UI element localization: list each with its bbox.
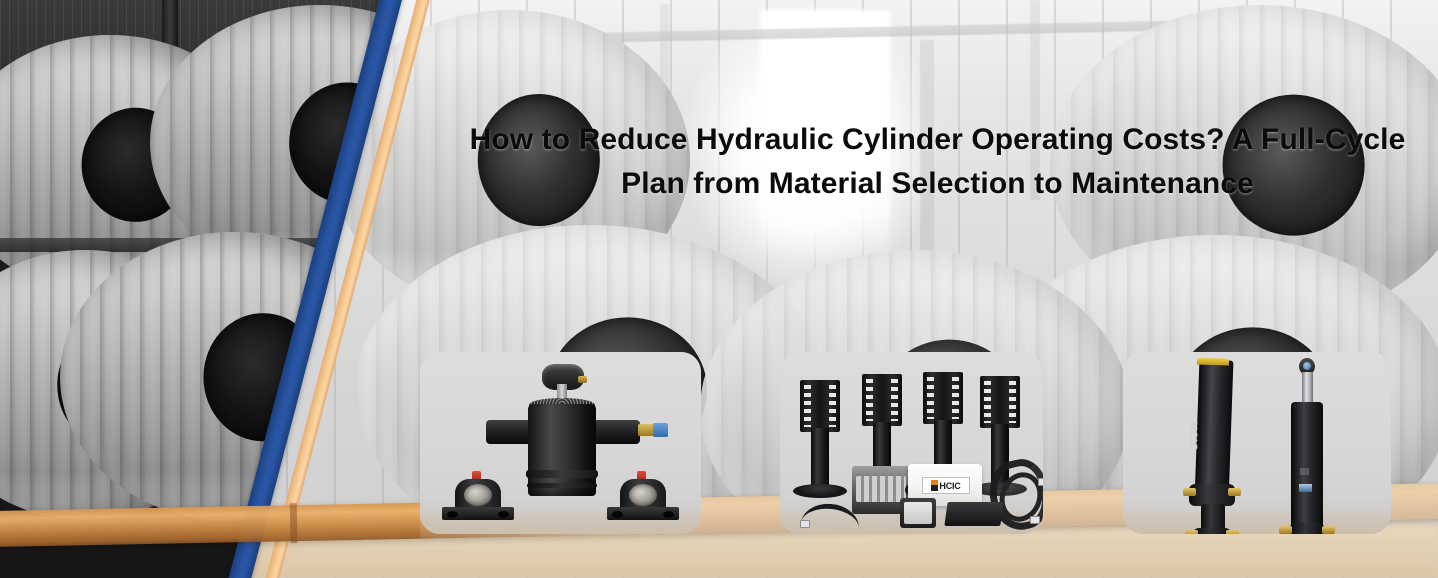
cylinder-brand-text: HCIC (1187, 422, 1199, 451)
jack-mounting-plate (923, 372, 963, 424)
brass-port (1279, 526, 1292, 534)
telescopic-hydraulic-cylinder-image (528, 364, 596, 496)
harness-connector (1030, 516, 1040, 524)
hcic-logo-mark-icon (931, 480, 938, 491)
hero-banner: How to Reduce Hydraulic Cylinder Operati… (0, 0, 1438, 578)
double-acting-cylinder-clevis (1291, 358, 1323, 534)
card-surface-line (1123, 512, 1391, 534)
brass-port (1183, 488, 1196, 496)
pillow-block-bore (464, 484, 492, 506)
controller-box (944, 502, 1003, 526)
jack-leg (811, 428, 829, 490)
pillow-block-mount-right (607, 476, 679, 520)
jack-mounting-plate (980, 376, 1020, 428)
blue-fitting (653, 423, 668, 437)
cylinder-yellow-cap (1197, 357, 1229, 365)
trunnion-right (590, 420, 640, 444)
bolt-hole (612, 511, 623, 518)
bolt-hole (663, 511, 674, 518)
brass-port (1185, 530, 1198, 534)
cylinder-tube (1195, 359, 1233, 488)
brass-port (1228, 488, 1241, 496)
valve-bank (856, 476, 906, 502)
brass-port (1322, 526, 1335, 534)
bolt-hole (447, 511, 458, 518)
brass-port (1226, 530, 1239, 534)
cylinder-collar (526, 470, 598, 478)
trunnion-left (486, 420, 534, 444)
control-panel (900, 498, 936, 528)
product-card-double-acting-cylinders[interactable]: HCIC (1123, 352, 1391, 534)
hcic-logo: HCIC (922, 477, 970, 494)
jack-foot-pad (793, 484, 847, 498)
cylinder-stamp (1300, 468, 1309, 475)
pillow-block-mount-left (442, 476, 514, 520)
pipe-joint (290, 503, 298, 543)
pillow-block-bore (629, 484, 657, 506)
product-card-rv-leveling-jack-system[interactable]: HCIC (780, 352, 1043, 534)
brass-port (638, 424, 654, 436)
harness-connector (800, 520, 810, 528)
grease-nipple (578, 376, 587, 383)
jack-mounting-plate (800, 380, 840, 432)
page-title: How to Reduce Hydraulic Cylinder Operati… (455, 118, 1420, 206)
jack-mounting-plate (862, 374, 902, 426)
cylinder-tube (1291, 402, 1323, 530)
cylinder-base (1289, 522, 1325, 534)
hcic-logo-text: HCIC (939, 481, 960, 491)
cylinder-collar (527, 483, 597, 488)
telescopic-cylinder-branded: HCIC (1195, 360, 1229, 534)
bolt-hole (498, 511, 509, 518)
product-card-telescopic-cylinder-with-mounts[interactable] (420, 352, 701, 534)
harness-connector (1038, 478, 1043, 486)
chrome-rod (1302, 372, 1313, 406)
card-backdrop (1123, 352, 1391, 534)
cylinder-label (1299, 484, 1312, 492)
control-panel-face (904, 502, 932, 524)
